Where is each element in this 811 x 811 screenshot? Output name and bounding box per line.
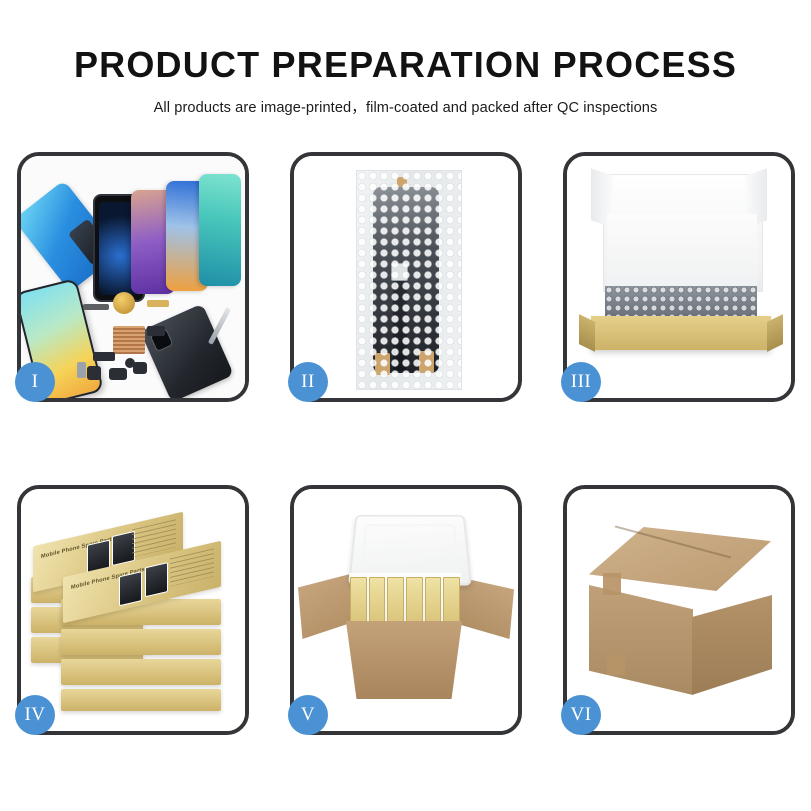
speaker-module xyxy=(113,292,135,314)
page-subtitle: All products are image-printed，film-coat… xyxy=(0,96,811,117)
step-badge-2: II xyxy=(288,362,328,402)
step-badge-1: I xyxy=(15,362,55,402)
header: PRODUCT PREPARATION PROCESS All products… xyxy=(0,0,811,117)
step-badge-4: IV xyxy=(15,695,55,735)
process-step-panel-5[interactable]: V xyxy=(290,485,522,735)
step-1-image xyxy=(21,156,245,398)
step-2-image xyxy=(294,156,518,398)
carton-flap-right xyxy=(458,577,514,639)
carton-flap-left xyxy=(298,573,354,639)
step-4-image: Mobile Phone Spare Parts Mobile Phone Sp… xyxy=(21,489,245,731)
bubble-wrapped-contents xyxy=(605,286,757,318)
process-step-panel-4[interactable]: Mobile Phone Spare Parts Mobile Phone Sp… xyxy=(17,485,249,735)
product-preparation-infographic: PRODUCT PREPARATION PROCESS All products… xyxy=(0,0,811,811)
process-step-panel-2[interactable]: II xyxy=(290,152,522,402)
step-3-image xyxy=(567,156,791,398)
page-title: PRODUCT PREPARATION PROCESS xyxy=(0,46,811,84)
carton-side-face xyxy=(692,595,772,695)
step-badge-6: VI xyxy=(561,695,601,735)
logic-board xyxy=(113,326,145,354)
carton-front-face xyxy=(589,585,693,695)
step-badge-5: V xyxy=(288,695,328,735)
foam-insert xyxy=(607,214,757,288)
process-step-panel-6[interactable]: VI xyxy=(563,485,795,735)
teal-phone xyxy=(199,174,241,286)
process-steps-grid: I II xyxy=(17,152,801,735)
process-step-panel-1[interactable]: I xyxy=(17,152,249,402)
outer-carton-body xyxy=(338,621,470,699)
bubble-wrap-bag xyxy=(356,170,462,390)
step-badge-3: III xyxy=(561,362,601,402)
bubble-texture xyxy=(357,171,461,389)
gold-box-tray xyxy=(591,316,771,350)
step-6-image xyxy=(567,489,791,731)
process-step-panel-3[interactable]: III xyxy=(563,152,795,402)
step-5-image xyxy=(294,489,518,731)
